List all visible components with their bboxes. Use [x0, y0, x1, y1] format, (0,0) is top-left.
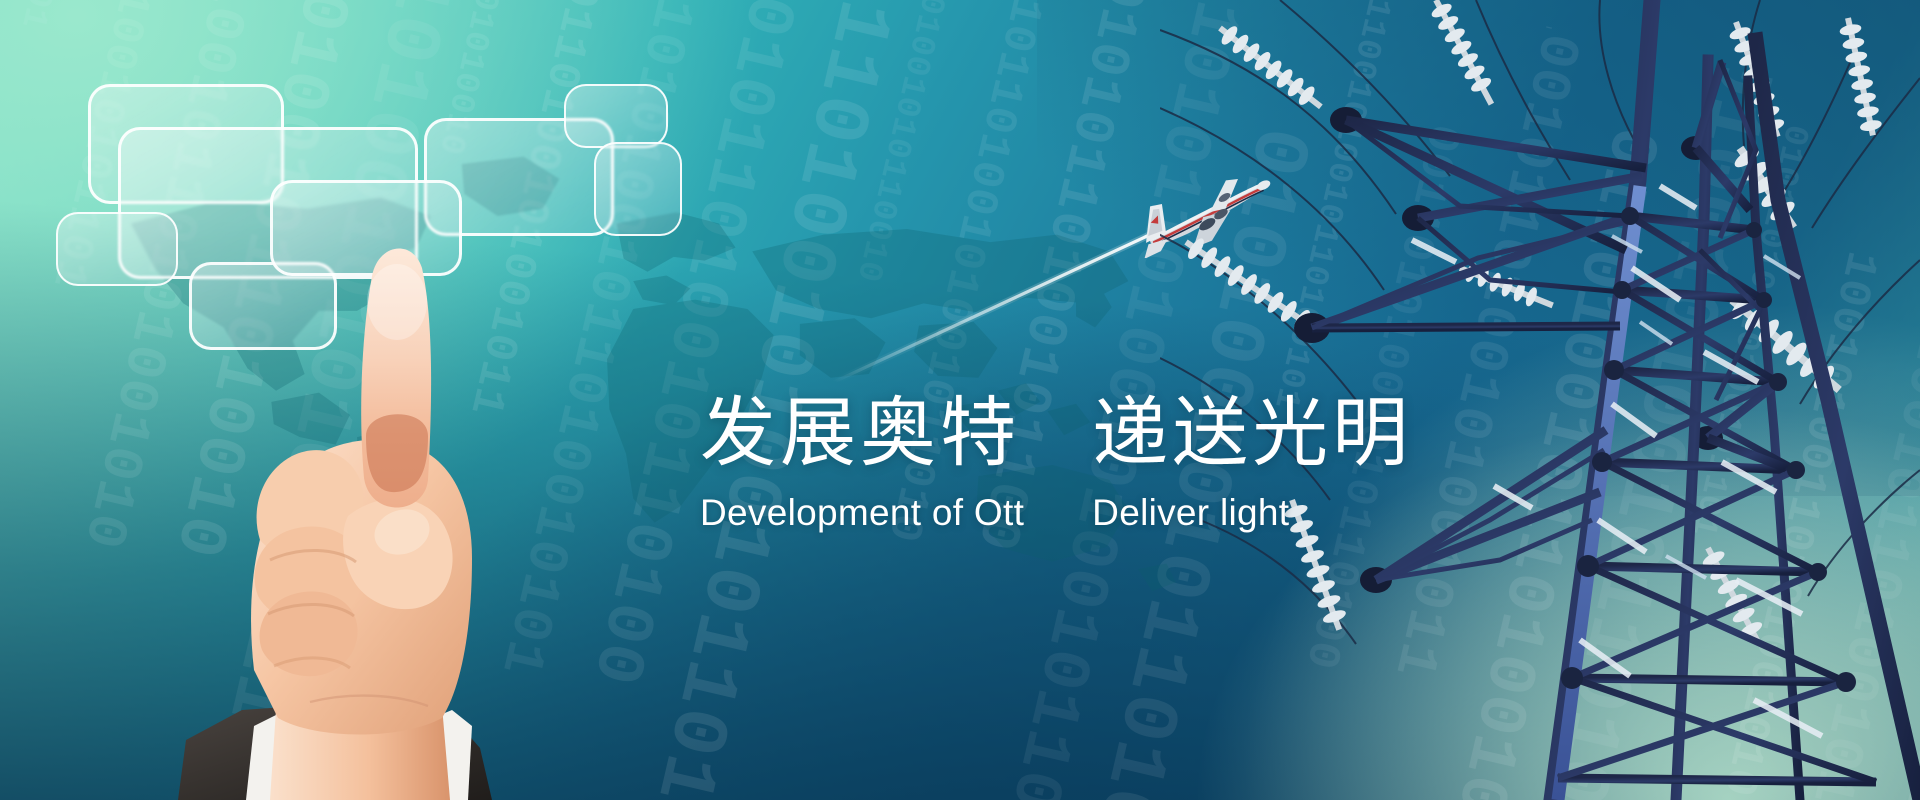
headline-cn-2: 递送光明	[1092, 396, 1412, 472]
headline-en-2: Deliver light	[1092, 494, 1412, 533]
headline-cn-1: 发展奥特	[700, 396, 1024, 472]
hero-banner: 0100101011010010100110101001010010101101…	[0, 0, 1920, 800]
pointing-index-finger-hand	[150, 240, 570, 800]
headline-phrase-1: 发展奥特 Development of Ott	[700, 396, 1024, 533]
headline-block: 发展奥特 Development of Ott 递送光明 Deliver lig…	[700, 396, 1412, 533]
headline-phrase-2: 递送光明 Deliver light	[1092, 396, 1412, 533]
panel-4[interactable]	[564, 84, 668, 148]
passenger-jet-airliner	[1128, 168, 1278, 258]
panel-8[interactable]	[594, 142, 682, 236]
headline-en-1: Development of Ott	[700, 494, 1024, 533]
